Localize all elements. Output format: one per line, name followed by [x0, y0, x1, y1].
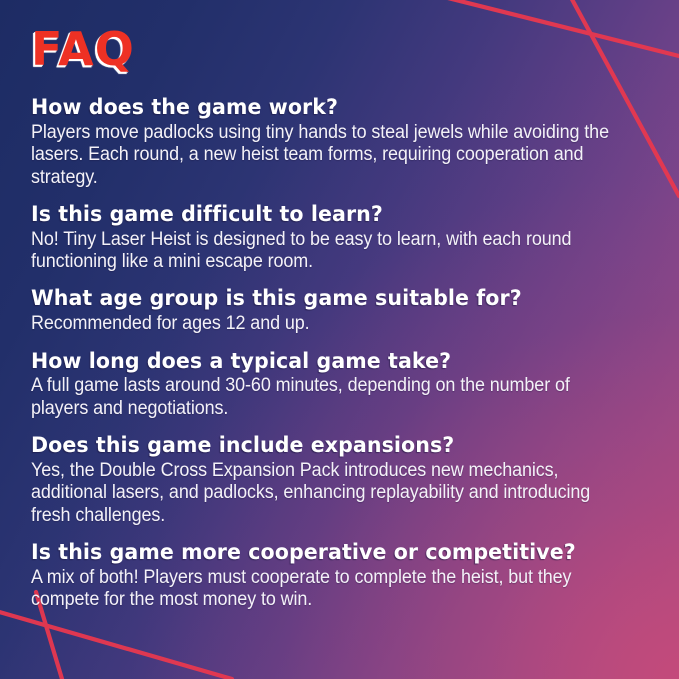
faq-item-2: Is this game difficult to learn? No! Tin…	[31, 203, 651, 274]
faq-question-5: Does this game include expansions?	[31, 434, 623, 459]
faq-answer-3: Recommended for ages 12 and up.	[31, 313, 617, 335]
faq-content: FAQ How does the game work? Players move…	[31, 26, 651, 626]
faq-answer-5: Yes, the Double Cross Expansion Pack int…	[31, 460, 617, 527]
faq-question-2: Is this game difficult to learn?	[31, 203, 623, 228]
faq-item-4: How long does a typical game take? A ful…	[31, 350, 651, 421]
faq-answer-6: A mix of both! Players must cooperate to…	[31, 567, 617, 612]
faq-answer-4: A full game lasts around 30-60 minutes, …	[31, 375, 617, 420]
faq-question-1: How does the game work?	[31, 96, 623, 121]
faq-item-6: Is this game more cooperative or competi…	[31, 541, 651, 612]
faq-answer-2: No! Tiny Laser Heist is designed to be e…	[31, 229, 617, 274]
faq-item-5: Does this game include expansions? Yes, …	[31, 434, 651, 527]
faq-card: FAQ How does the game work? Players move…	[0, 0, 679, 679]
faq-question-3: What age group is this game suitable for…	[31, 287, 623, 312]
faq-answer-1: Players move padlocks using tiny hands t…	[31, 122, 617, 189]
faq-question-4: How long does a typical game take?	[31, 350, 623, 375]
faq-item-3: What age group is this game suitable for…	[31, 287, 651, 335]
faq-question-6: Is this game more cooperative or competi…	[31, 541, 623, 566]
page-title: FAQ	[31, 26, 651, 72]
faq-item-1: How does the game work? Players move pad…	[31, 96, 651, 189]
